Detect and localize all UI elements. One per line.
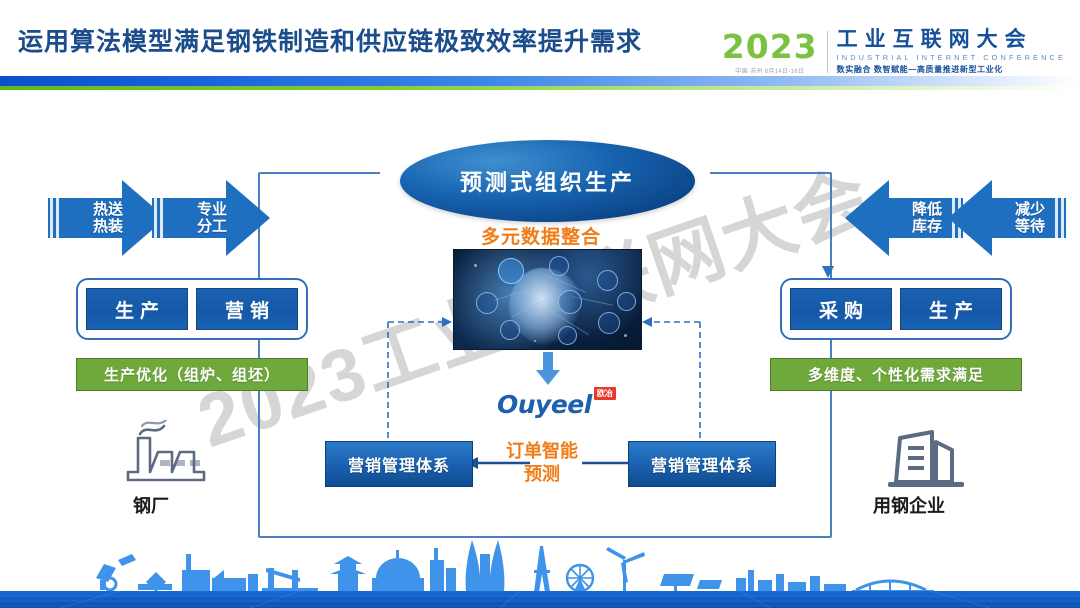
order-prediction-caption: 订单智能预测	[506, 440, 578, 485]
logo-year-block: 2023 中国·苏州 8月14日-16日	[722, 30, 827, 75]
node-cart-icon	[598, 312, 620, 334]
left-green-bar: 生产优化（组炉、组坯）	[76, 358, 308, 391]
logo-conference-en: INDUSTRIAL INTERNET CONFERENCE	[837, 53, 1066, 62]
logo-year: 2023	[722, 30, 818, 63]
node-lock-icon	[500, 320, 520, 340]
center-ellipse: 预测式组织生产	[400, 140, 695, 222]
arrow-hot-charging: 热送热装	[48, 178, 168, 258]
page-title: 运用算法模型满足钢铁制造和供应链极致效率提升需求	[18, 22, 642, 58]
ouyeel-badge: 欧冶	[594, 387, 616, 400]
conference-logo: 2023 中国·苏州 8月14日-16日 工业互联网大会 INDUSTRIAL …	[722, 26, 1066, 78]
left-cell-marketing: 营销	[196, 288, 298, 330]
ouyeel-brand-logo: Ouyeel 欧冶	[497, 390, 616, 419]
foot-left-label: 钢厂	[133, 492, 169, 518]
node-gear-icon	[476, 292, 498, 314]
office-building-icon	[880, 420, 972, 499]
right-green-bar: 多维度、个性化需求满足	[770, 358, 1022, 391]
arrow-reduce-waiting: 减少等待	[948, 178, 1068, 258]
arrow-specialized-division: 专业分工	[152, 178, 272, 258]
right-cell-production: 生产	[900, 288, 1002, 330]
foot-right-label: 用钢企业	[873, 492, 945, 518]
node-chat-icon	[617, 292, 636, 311]
bottom-box-marketing-right: 营销管理体系	[628, 441, 776, 487]
decorative-skyline	[0, 534, 1080, 608]
node-cloud-icon	[597, 270, 618, 291]
technology-illustration	[453, 249, 642, 350]
right-function-group: 采购 生产	[780, 278, 1012, 340]
right-cell-procurement: 采购	[790, 288, 892, 330]
bottom-box-marketing-left: 营销管理体系	[325, 441, 473, 487]
arrow-reduce-inventory: 降低库存	[845, 178, 965, 258]
node-person-icon	[549, 256, 569, 276]
data-integration-caption: 多元数据整合	[481, 222, 601, 249]
left-function-group: 生产 营销	[76, 278, 308, 340]
factory-icon	[120, 420, 224, 499]
slide-canvas: 运用算法模型满足钢铁制造和供应链极致效率提升需求 2023 中国·苏州 8月14…	[0, 0, 1080, 608]
logo-subtitle: 数实融合 数智赋能—高质量推进新型工业化	[837, 64, 1066, 75]
node-wifi-icon	[558, 326, 577, 345]
ouyeel-wordmark: Ouyeel	[497, 390, 592, 419]
logo-text-block: 工业互联网大会 INDUSTRIAL INTERNET CONFERENCE 数…	[828, 29, 1066, 75]
logo-conference-cn: 工业互联网大会	[837, 29, 1066, 51]
logo-date: 中国·苏州 8月14日-16日	[735, 66, 804, 75]
node-settings-icon	[558, 290, 582, 314]
left-cell-production: 生产	[86, 288, 188, 330]
node-chart-icon	[498, 258, 524, 284]
down-arrow-to-brand	[535, 352, 561, 391]
header-green-rule	[0, 86, 1080, 90]
